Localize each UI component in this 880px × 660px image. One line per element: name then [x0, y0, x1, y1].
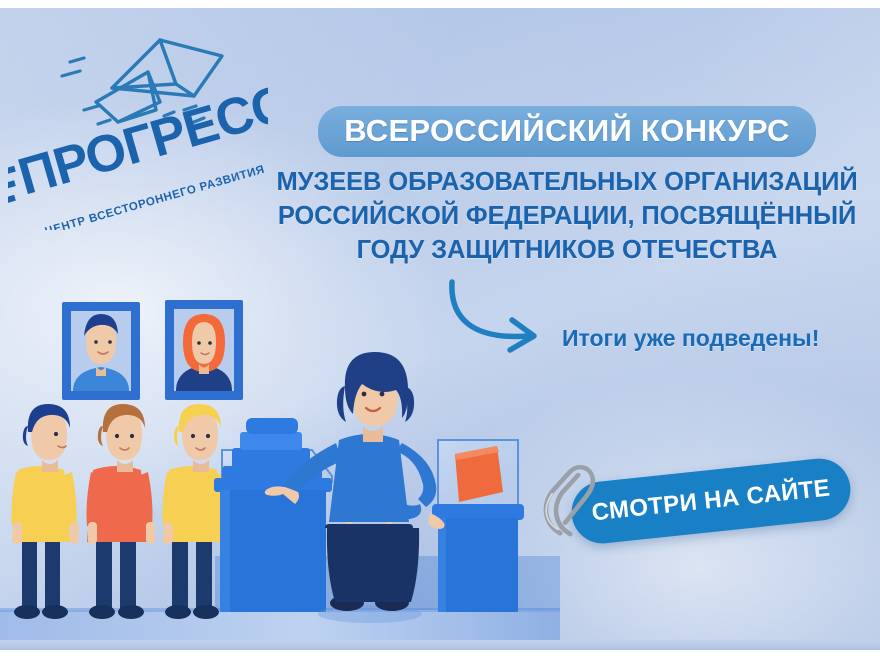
paperclip-icon: [529, 460, 611, 543]
svg-text:ПРОГРЕСС: ПРОГРЕСС: [12, 74, 268, 206]
portrait-man: [62, 302, 140, 400]
top-edge: [0, 0, 880, 8]
child-middle: [87, 404, 156, 619]
results-caption: Итоги уже подведены!: [562, 325, 819, 352]
poster-canvas: ПРОГРЕСС ЦЕНТР ВСЕСТОРОННЕГО РАЗВИТИЯ ДЕ…: [0, 0, 880, 660]
headline-line-1: МУЗЕЕВ ОБРАЗОВАТЕЛЬНЫХ ОРГАНИЗАЦИЙ: [262, 165, 872, 199]
display-case-left: [214, 418, 332, 612]
bottom-band: [0, 640, 880, 650]
curved-arrow-icon: [400, 272, 580, 372]
bottom-edge: [0, 650, 880, 660]
display-case-right: [432, 440, 524, 612]
progress-logo[interactable]: ПРОГРЕСС ЦЕНТР ВСЕСТОРОННЕГО РАЗВИТИЯ ДЕ…: [8, 10, 268, 230]
view-on-site-button[interactable]: СМОТРИ НА САЙТЕ: [569, 456, 854, 547]
cta-group: СМОТРИ НА САЙТЕ: [527, 462, 867, 546]
contest-badge: ВСЕРОССИЙСКИЙ КОНКУРС: [318, 106, 815, 157]
headline-line-2: РОССИЙСКОЙ ФЕДЕРАЦИИ, ПОСВЯЩЁННЫЙ: [262, 199, 872, 233]
headline-line-3: ГОДУ ЗАЩИТНИКОВ ОТЕЧЕСТВА: [262, 233, 872, 267]
child-left: [12, 404, 80, 619]
portrait-woman: [165, 300, 243, 400]
logo-wordmark: ПРОГРЕСС: [8, 74, 268, 215]
headline-block: ВСЕРОССИЙСКИЙ КОНКУРС МУЗЕЕВ ОБРАЗОВАТЕЛ…: [262, 106, 872, 267]
